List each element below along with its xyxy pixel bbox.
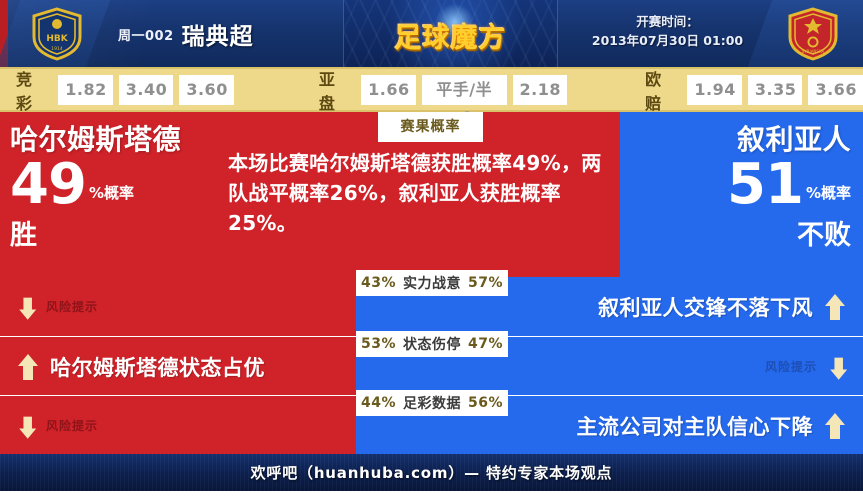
metric-rows: 风险提示 叙利亚人交锋不落下风 43% 实力战意 57% 哈尔	[0, 277, 863, 454]
metric-row: 风险提示 主流公司对主队信心下降 44% 足彩数据 56%	[0, 395, 863, 454]
metric-left-cell: 风险提示	[0, 277, 356, 336]
result-probability-tab[interactable]: 赛果概率	[378, 112, 483, 142]
left-statement-group: 哈尔姆斯塔德状态占优	[0, 352, 265, 382]
left-risk-group: 风险提示	[0, 415, 98, 437]
away-probability-panel: 叙利亚人 51 %概率 不败	[620, 112, 863, 277]
risk-tip-label: 风险提示	[46, 298, 98, 315]
metric-title: 足彩数据	[403, 393, 461, 413]
league-name: 瑞典超	[182, 17, 254, 51]
risk-tip-label: 风险提示	[765, 358, 817, 375]
home-probability-number: 49	[10, 158, 86, 211]
home-team-summary: 哈尔姆斯塔德 49 %概率 胜	[10, 124, 225, 252]
metric-right-percent: 57%	[468, 275, 503, 291]
right-statement-group: 主流公司对主队信心下降	[577, 411, 863, 441]
odds-cell[interactable]: 3.35	[748, 75, 803, 105]
arrow-up-icon	[18, 354, 38, 380]
metric-meter: 44% 足彩数据 56%	[356, 390, 508, 416]
arrow-down-icon	[19, 416, 33, 435]
odds-cell[interactable]: 3.40	[119, 75, 174, 105]
match-number: 周一002	[118, 25, 174, 44]
left-risk-group: 风险提示	[0, 296, 98, 318]
kickoff-label: 开赛时间：	[575, 12, 760, 31]
away-team-crest-icon: SYRIANSKA	[786, 7, 840, 61]
odds-cell[interactable]: 1.66	[361, 75, 416, 105]
metric-meter: 43% 实力战意 57%	[356, 270, 508, 296]
match-analysis-infographic: HBK 1914 周一002 瑞典超 足球魔方 开赛时间： 2013年07月30…	[0, 0, 863, 499]
footer: 欢呼吧（huanhuba.com）— 特约专家本场观点	[0, 454, 863, 491]
metric-right-percent: 47%	[468, 336, 503, 352]
metric-left-percent: 53%	[361, 336, 396, 352]
odds-cell[interactable]: 2.18	[513, 75, 568, 105]
away-probability-value-row: 51 %概率	[636, 158, 851, 211]
brand-panel: 足球魔方	[343, 0, 558, 67]
kickoff-time: 开赛时间： 2013年07月30日 01:00	[575, 12, 760, 51]
odds-cell[interactable]: 1.94	[687, 75, 742, 105]
away-outcome-label: 不败	[636, 213, 851, 252]
metric-row: 风险提示 叙利亚人交锋不落下风 43% 实力战意 57%	[0, 277, 863, 336]
arrow-down-icon	[19, 297, 33, 316]
metric-left-percent: 43%	[361, 275, 396, 291]
header: HBK 1914 周一002 瑞典超 足球魔方 开赛时间： 2013年07月30…	[0, 0, 863, 67]
away-team-summary: 叙利亚人 51 %概率 不败	[636, 124, 851, 252]
probability-band: 哈尔姆斯塔德 49 %概率 胜 叙利亚人 51 %概率 不败 赛果概率 本场比赛…	[0, 112, 863, 277]
odds-group-label: 竞彩	[16, 66, 49, 114]
right-risk-group: 风险提示	[765, 356, 863, 378]
arrow-up-icon	[825, 294, 845, 320]
probability-summary-text: 本场比赛哈尔姆斯塔德获胜概率49%，两队战平概率26%，叙利亚人获胜概率25%。	[228, 148, 618, 238]
match-title: 周一002 瑞典超	[118, 14, 343, 54]
home-outcome-label: 胜	[10, 213, 225, 252]
metric-meter: 53% 状态伤停 47%	[356, 331, 508, 357]
odds-cell[interactable]: 1.82	[58, 75, 113, 105]
metric-row: 哈尔姆斯塔德状态占优 风险提示 53% 状态伤停 47%	[0, 336, 863, 395]
right-statement-group: 叙利亚人交锋不落下风	[598, 292, 863, 322]
odds-group-label: 欧赔	[645, 66, 678, 114]
home-team-crest-icon: HBK 1914	[30, 7, 84, 61]
risk-tip-label: 风险提示	[46, 417, 98, 434]
arrow-up-icon	[825, 413, 845, 439]
metric-right-percent: 56%	[468, 395, 503, 411]
metric-title: 实力战意	[403, 273, 461, 293]
arrow-down-icon	[830, 357, 844, 376]
away-probability-number: 51	[727, 158, 803, 211]
metric-title: 状态伤停	[403, 334, 461, 354]
metric-left-cell: 哈尔姆斯塔德状态占优	[0, 337, 356, 396]
odds-cell[interactable]: 3.60	[179, 75, 234, 105]
away-probability-unit: %概率	[806, 182, 851, 211]
metric-statement: 叙利亚人交锋不落下风	[598, 292, 813, 322]
svg-text:HBK: HBK	[46, 34, 68, 44]
metric-left-percent: 44%	[361, 395, 396, 411]
odds-group-oupei: 欧赔 1.94 3.35 3.66	[645, 66, 863, 114]
kickoff-value: 2013年07月30日 01:00	[575, 31, 760, 50]
odds-bar: 竞彩 1.82 3.40 3.60 亚盘 1.66 平手/半球 2.18 欧赔 …	[0, 67, 863, 112]
odds-group-yapan: 亚盘 1.66 平手/半球 2.18	[319, 66, 567, 114]
odds-group-jingcai: 竞彩 1.82 3.40 3.60	[16, 66, 234, 114]
odds-cell[interactable]: 3.66	[808, 75, 863, 105]
odds-group-label: 亚盘	[319, 66, 352, 114]
metric-statement: 哈尔姆斯塔德状态占优	[50, 352, 265, 382]
home-probability-unit: %概率	[89, 182, 134, 211]
metric-statement: 主流公司对主队信心下降	[577, 411, 814, 441]
svg-text:1914: 1914	[51, 46, 63, 52]
brand-logo-text: 足球魔方	[344, 16, 557, 55]
svg-text:SYRIANSKA: SYRIANSKA	[802, 49, 825, 54]
footer-text: 欢呼吧（huanhuba.com）— 特约专家本场观点	[251, 462, 613, 483]
home-probability-value-row: 49 %概率	[10, 158, 225, 211]
metric-left-cell: 风险提示	[0, 396, 356, 455]
odds-handicap-cell[interactable]: 平手/半球	[422, 75, 507, 105]
